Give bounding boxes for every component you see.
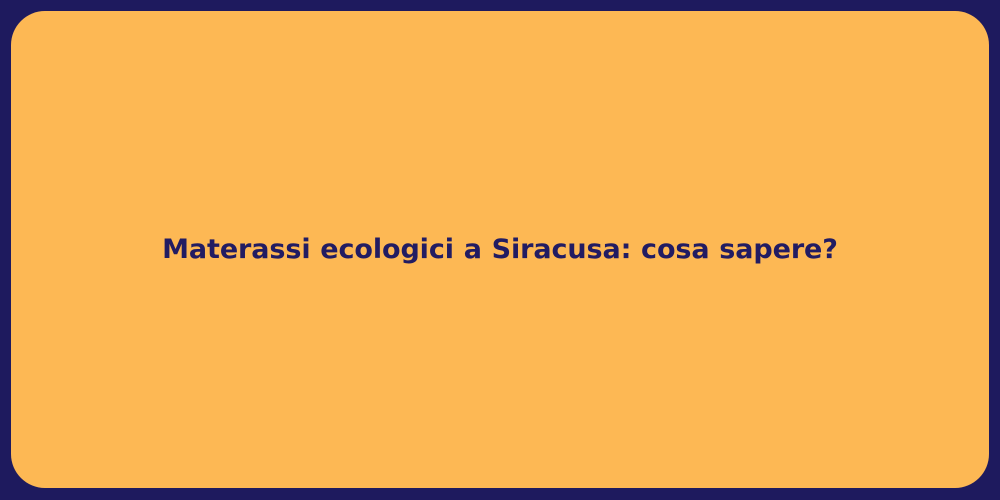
banner-title: Materassi ecologici a Siracusa: cosa sap… — [79, 232, 920, 267]
banner-card: Materassi ecologici a Siracusa: cosa sap… — [11, 11, 989, 488]
banner-frame: Materassi ecologici a Siracusa: cosa sap… — [0, 0, 1000, 500]
